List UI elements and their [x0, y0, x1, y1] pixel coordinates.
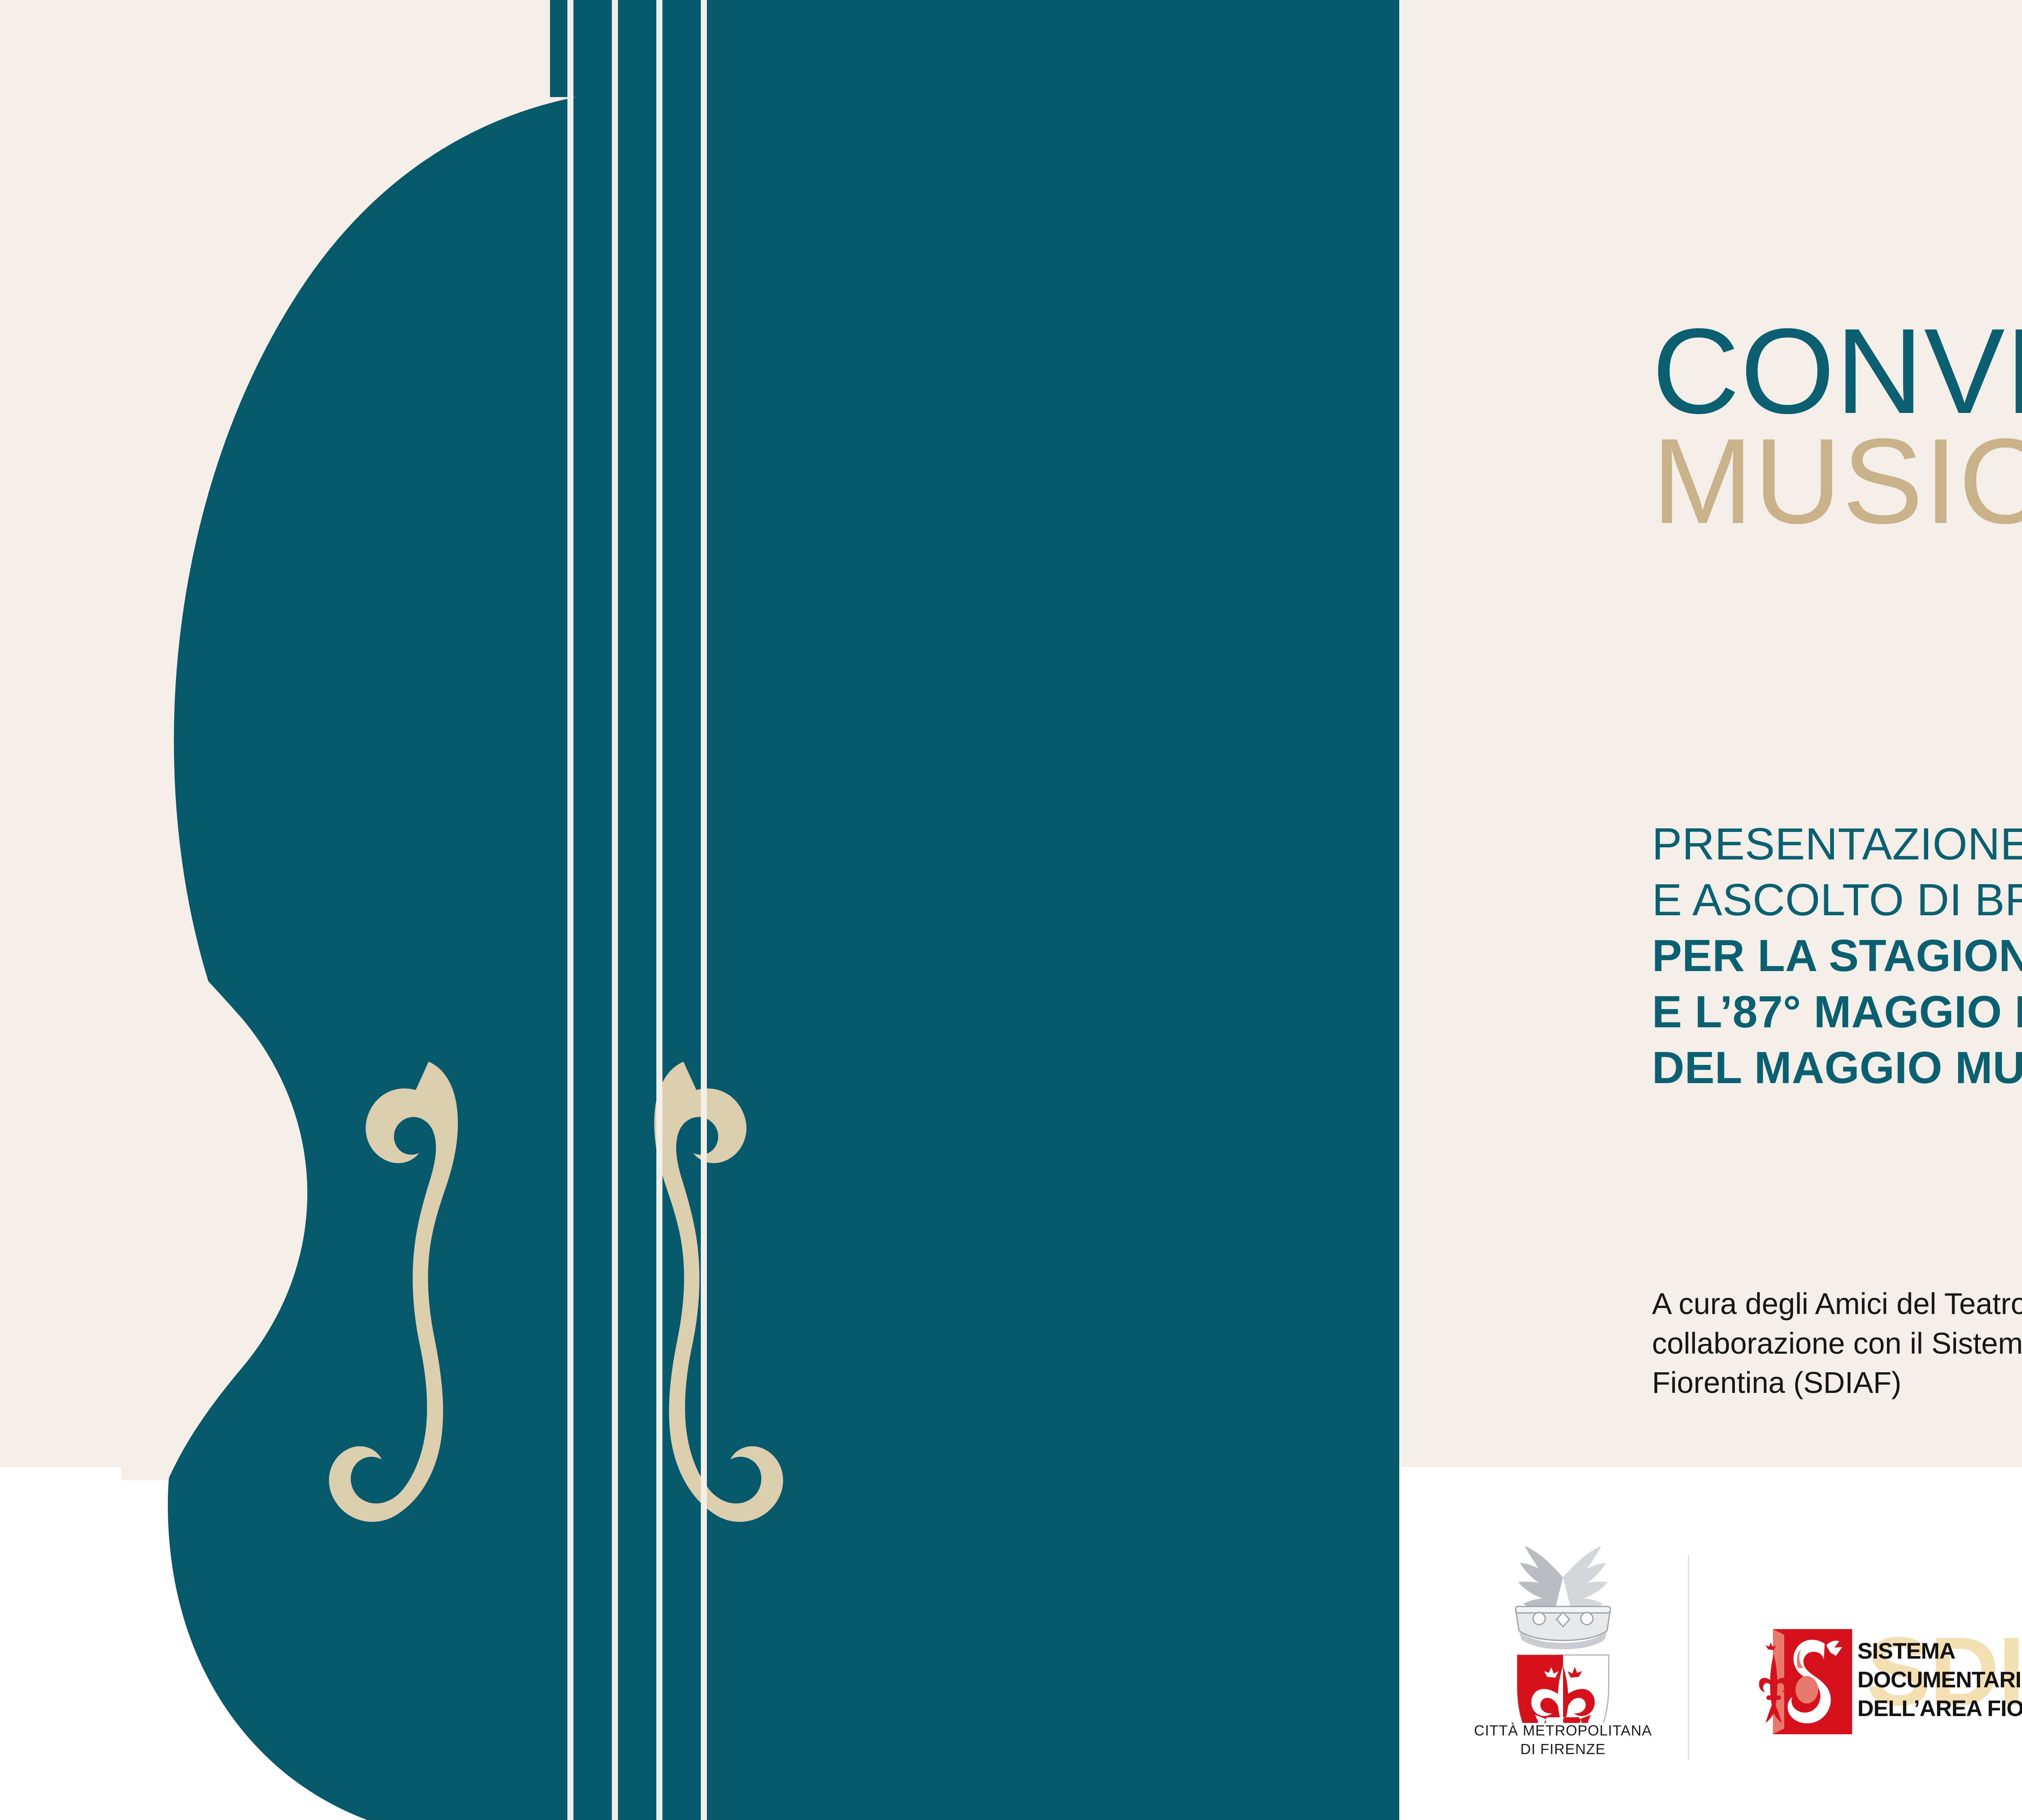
- violin-string-4: [701, 0, 707, 1820]
- credits-line-3: Fiorentina (SDIAF): [1652, 1363, 2022, 1403]
- crown-foliage: [1518, 1546, 1563, 1611]
- citta-crest-icon: [1468, 1513, 1658, 1723]
- subtitle-line-2: E ASCOLTO DI BRANI DI OPERE LIRICHE: [1652, 872, 2022, 928]
- crown-band: [1516, 1606, 1610, 1649]
- violin-string-3: [656, 0, 662, 1820]
- citta-caption-line-1: CITTÀ METROPOLITANA: [1468, 1721, 1658, 1740]
- subtitle-block: PRESENTAZIONE, STORIA CURIOSITÀ E ASCOLT…: [1652, 816, 2022, 1096]
- citta-caption: CITTÀ METROPOLITANA DI FIRENZE: [1468, 1721, 1658, 1759]
- citta-caption-line-2: DI FIRENZE: [1468, 1740, 1658, 1759]
- violin-silhouette-icon: [0, 0, 1399, 1820]
- violin-string-1: [567, 0, 573, 1820]
- logo-citta-metropolitana[interactable]: CITTÀ METROPOLITANA DI FIRENZE: [1468, 1513, 1658, 1771]
- credits-line-1: A cura degli Amici del Teatro del Maggio…: [1652, 1284, 2022, 1324]
- credits-line-2: collaborazione con il Sistema Documentar…: [1652, 1324, 2022, 1363]
- violin-body-shape: [168, 0, 1399, 1820]
- logo-divider: [1688, 1555, 1689, 1759]
- sdiaf-line-2: DOCUMENTARIO INTEGRATO: [1857, 1665, 2022, 1694]
- crown-foliage-right: [1563, 1546, 1608, 1611]
- page-title: CONVERSAZIONI MUSICALI: [1652, 311, 2022, 540]
- violin-string-2: [612, 0, 618, 1820]
- credits-block: A cura degli Amici del Teatro del Maggio…: [1652, 1284, 2022, 1403]
- subtitle-line-1: PRESENTAZIONE, STORIA CURIOSITÀ: [1652, 816, 2022, 872]
- title-line-conversazioni: CONVERSAZIONI: [1652, 311, 2022, 430]
- logo-sdiaf[interactable]: SDIAF: [1759, 1629, 2022, 1734]
- subtitle-line-4: E L’87° MAGGIO MUSICALE DEL TEATRO: [1652, 984, 2022, 1040]
- sdiaf-line-3: DELL’AREA FIORENTINA: [1857, 1694, 2022, 1723]
- poster-canvas: CONVERSAZIONI MUSICALI PRESENTAZIONE, ST…: [0, 0, 2022, 1820]
- sdiaf-line-1: SISTEMA: [1857, 1636, 2022, 1665]
- subtitle-line-3: PER LA STAGIONE 2025: [1652, 928, 2022, 984]
- sponsor-logo-strip: CITTÀ METROPOLITANA DI FIRENZE SDIAF: [1432, 1513, 2022, 1792]
- subtitle-line-5: DEL MAGGIO MUSICALE FIORENTINO: [1652, 1040, 2022, 1096]
- sdiaf-emblem-icon: [1759, 1629, 1852, 1734]
- sdiaf-wordmark: SISTEMA DOCUMENTARIO INTEGRATO DELL’AREA…: [1857, 1636, 2022, 1723]
- violin-neck: [550, 0, 793, 97]
- title-line-musicali: MUSICALI: [1652, 421, 2022, 540]
